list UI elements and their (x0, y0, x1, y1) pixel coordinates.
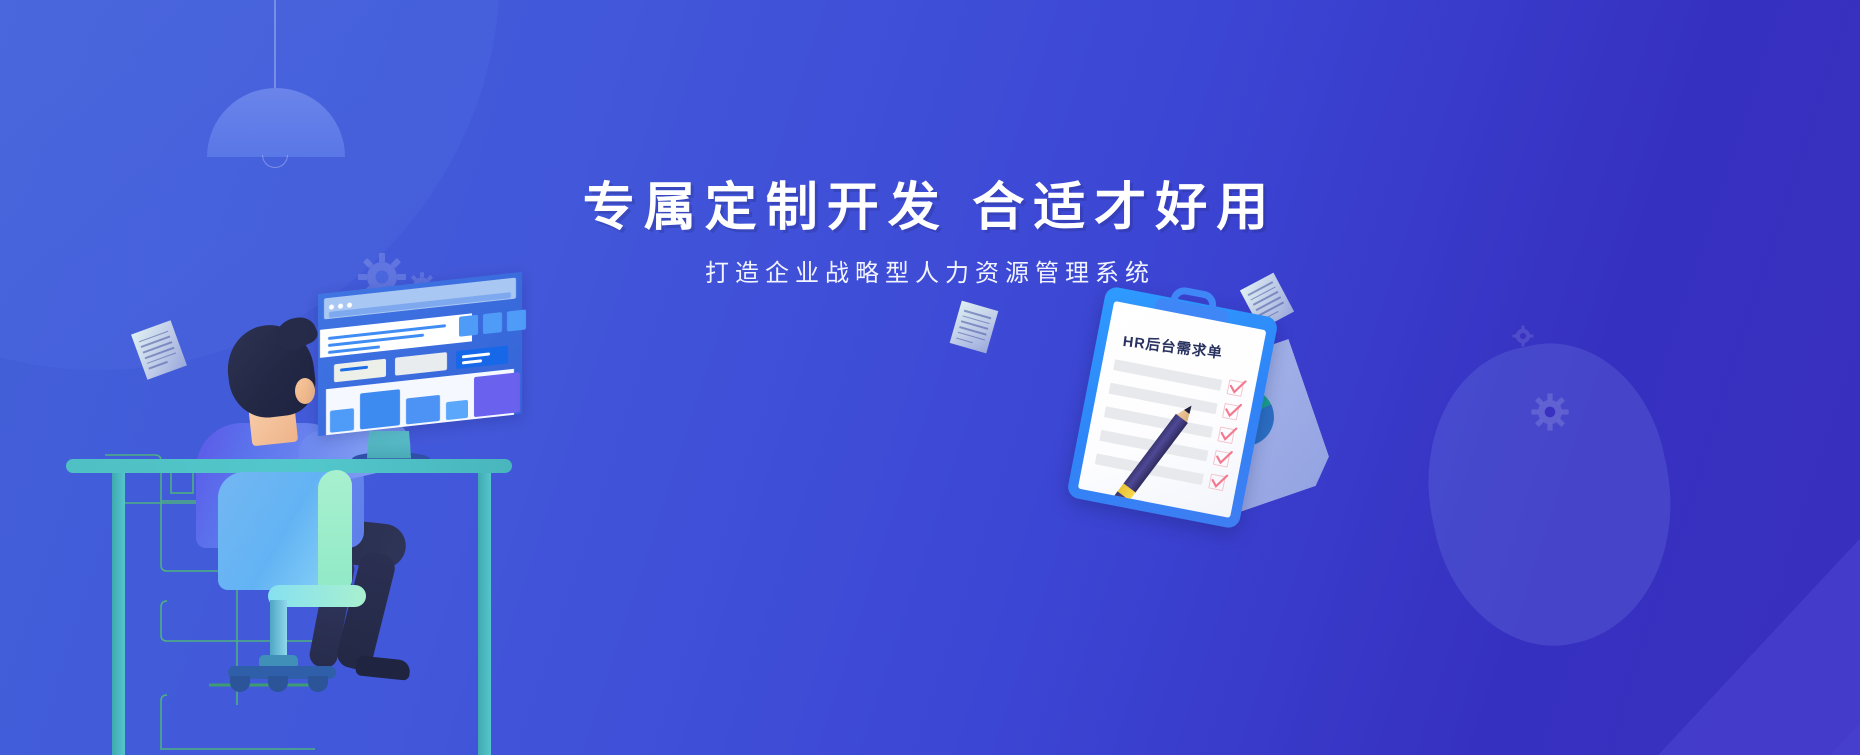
checkbox-checked (1208, 474, 1226, 492)
chart-tile (330, 408, 354, 433)
desk-surface (66, 459, 512, 473)
card-tile (395, 352, 447, 376)
checkbox-checked (1213, 450, 1231, 468)
chart-tile (474, 372, 520, 417)
card-tile (334, 359, 386, 383)
page-subtitle: 打造企业战略型人力资源管理系统 (0, 253, 1860, 288)
browser-window-mock (318, 272, 522, 436)
window-dot (329, 304, 334, 310)
lamp-cord (274, 0, 276, 90)
clipboard-title: HR后台需求单 (1122, 330, 1254, 367)
gear-icon (1531, 393, 1569, 431)
checkbox-checked (1227, 379, 1245, 397)
person-ear (295, 378, 315, 404)
checkbox-checked (1217, 426, 1235, 444)
desk-leg (478, 470, 491, 755)
banner-copy: 专属定制开发 合适才好用 打造企业战略型人力资源管理系统 (0, 178, 1860, 288)
desk-leg (112, 470, 125, 755)
checkbox-checked (1222, 403, 1240, 421)
monitor-stand (367, 431, 411, 458)
hr-promo-banner: HR后台需求单 (0, 0, 1860, 755)
chart-tile (446, 400, 468, 420)
chair-stem (270, 600, 287, 658)
decorative-blob-right (1401, 323, 1698, 666)
swatch-tile (483, 312, 502, 334)
chart-tile (406, 395, 440, 425)
window-dot (347, 302, 352, 308)
chair-trim (318, 470, 352, 600)
swatch-tile (459, 315, 478, 337)
swatch-tile (507, 309, 526, 331)
card-tile (456, 345, 508, 369)
chart-tile (360, 389, 400, 429)
window-dot (338, 303, 343, 309)
gear-icon (1512, 325, 1534, 347)
page-title: 专属定制开发 合适才好用 (0, 178, 1860, 239)
